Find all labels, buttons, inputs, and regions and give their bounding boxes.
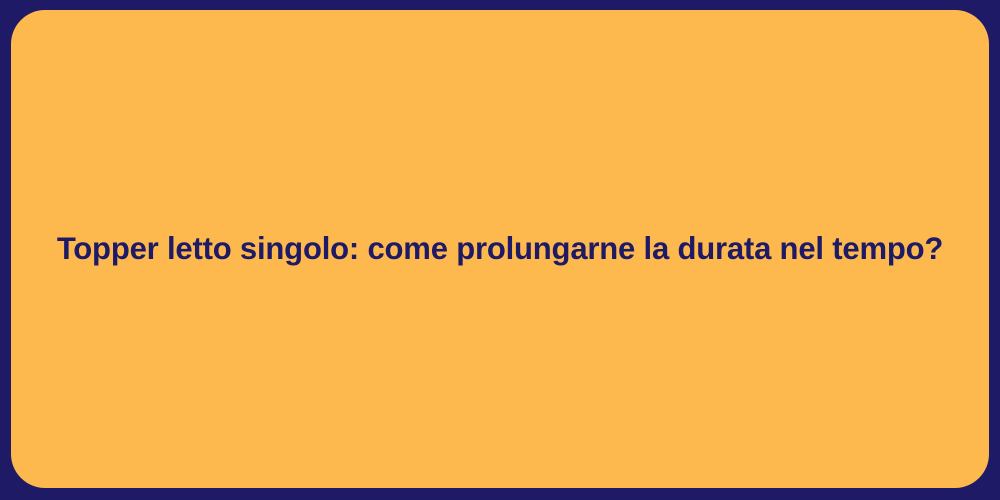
headline-container: Topper letto singolo: come prolungarne l… <box>11 230 989 269</box>
content-card: Topper letto singolo: come prolungarne l… <box>11 10 989 488</box>
page-background: Topper letto singolo: come prolungarne l… <box>0 0 1000 500</box>
page-title: Topper letto singolo: come prolungarne l… <box>57 230 943 269</box>
